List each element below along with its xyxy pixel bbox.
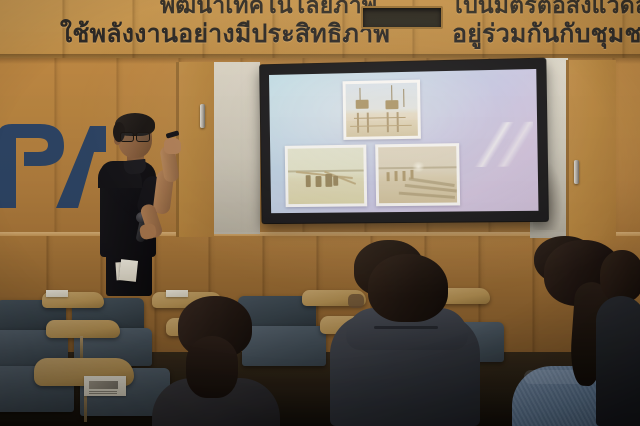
banner-left-bottom-line: ใช้พลังงานอย่างมีประสิทธิภาพ [60,22,390,47]
screen-light-streak [462,122,534,167]
door-handle-icon[interactable] [574,160,579,184]
banner-right-top-line: เป็นมิตรต่อสิ่งแวดล้อม [455,0,640,17]
tablet-desk [46,320,120,338]
audience-member-left [150,296,282,426]
left-glass-panel [214,62,260,234]
screen-surface [269,69,538,213]
long-hair [186,336,238,398]
presenter [92,112,200,294]
slide-photo-construction-site [375,143,460,206]
wall-plaque [361,6,443,29]
slide-photo-field-work [285,145,368,208]
handout-paper[interactable] [46,290,68,297]
audience-member-far-right [596,250,640,426]
wall-banner: พัฒนาเทคโนโลยีภาพ ใช้พลังงานอย่างมีประสิ… [0,0,640,56]
door-handle-icon[interactable] [200,104,205,128]
lecture-hall-photo: พัฒนาเทคโนโลยีภาพ ใช้พลังงานอย่างมีประสิ… [0,0,640,426]
audience-member-center [330,240,490,426]
handout-image [89,381,118,389]
right-sliding-door[interactable] [566,60,616,240]
eyeglasses [120,132,151,141]
projection-screen [260,59,548,224]
pocket-papers [119,259,138,282]
banner-left-top-line: พัฒนาเทคโนโลยีภาพ [160,0,377,17]
banner-right-bottom-line: อยู่ร่วมกันกับชุมชนอย่าง [452,22,640,47]
slide-photo-water-towers [343,80,421,140]
handout-paper[interactable] [84,376,126,396]
